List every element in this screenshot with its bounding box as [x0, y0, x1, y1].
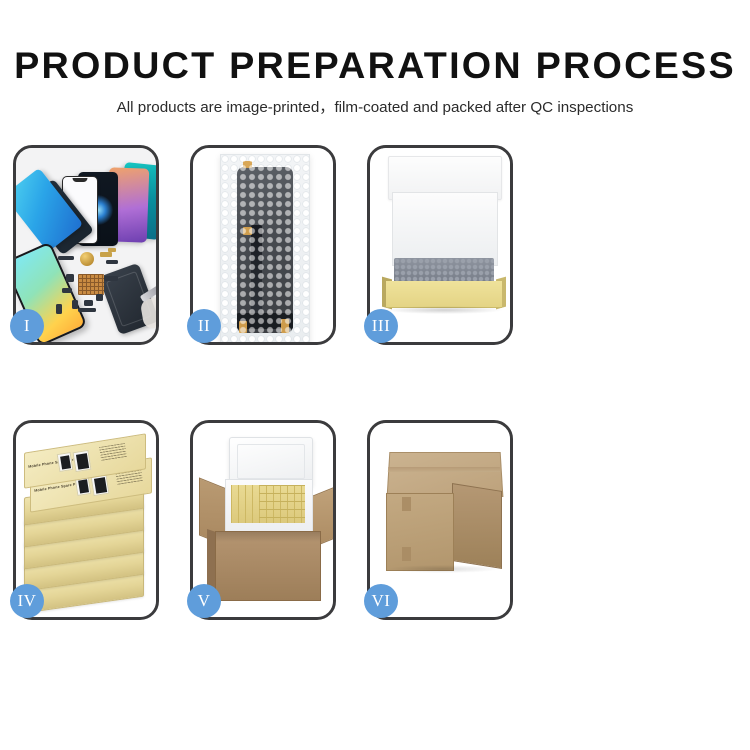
- foam-sheet: [392, 192, 498, 266]
- flex-cable: [251, 225, 262, 321]
- page-title: PRODUCT PREPARATION PROCESS: [0, 0, 750, 84]
- box-artwork: [57, 452, 74, 472]
- process-step-6[interactable]: VI: [367, 420, 513, 620]
- carton-side-face: [452, 483, 502, 569]
- part-chip: [84, 300, 93, 306]
- tape-piece: [239, 321, 247, 333]
- drop-shadow: [388, 565, 498, 573]
- tape-piece: [243, 161, 252, 168]
- part-connector: [100, 252, 112, 257]
- part-chip: [72, 300, 78, 309]
- step-badge-6: VI: [364, 584, 398, 618]
- part-chip: [104, 276, 118, 281]
- yellow-boxes-inside: [231, 485, 305, 523]
- carton-top-seam: [388, 467, 500, 472]
- part-chip: [62, 288, 72, 293]
- carton-body: [215, 531, 321, 601]
- process-step-5[interactable]: V: [190, 420, 336, 620]
- product-preparation-page: PRODUCT PREPARATION PROCESS All products…: [0, 0, 750, 750]
- part-connector: [108, 248, 116, 252]
- step-badge-4: IV: [10, 584, 44, 618]
- circuit-board: [78, 274, 104, 295]
- process-step-4[interactable]: Mobile Phone Spare Parts Mobile Phone Sp…: [13, 420, 159, 620]
- speaker-component: [80, 252, 94, 266]
- notch: [73, 178, 88, 182]
- page-header: PRODUCT PREPARATION PROCESS All products…: [0, 0, 750, 115]
- tape-piece: [281, 319, 289, 333]
- part-chip: [96, 294, 103, 301]
- process-step-3[interactable]: III: [367, 145, 513, 345]
- box-stack: Mobile Phone Spare Parts Mobile Phone Sp…: [24, 441, 154, 603]
- tape-strip: [402, 547, 411, 561]
- step-badge-3: III: [364, 309, 398, 343]
- bubble-wrap-bag: [220, 154, 310, 342]
- part-chip: [56, 304, 62, 314]
- process-step-2[interactable]: II: [190, 145, 336, 345]
- tape-piece: [243, 227, 252, 235]
- step-badge-1: I: [10, 309, 44, 343]
- step-badge-2: II: [187, 309, 221, 343]
- part-chip: [106, 260, 118, 264]
- box-front-face: [386, 281, 502, 308]
- lcd-screen: [237, 167, 293, 333]
- tape-strip: [402, 497, 411, 511]
- process-step-1[interactable]: I: [13, 145, 159, 345]
- part-chip: [78, 308, 96, 312]
- step-badge-5: V: [187, 584, 221, 618]
- carton-front-face: [386, 493, 454, 571]
- drop-shadow: [386, 306, 502, 314]
- box-edges-stacked: [259, 485, 305, 523]
- page-subtitle: All products are image-printed，film-coat…: [0, 84, 750, 115]
- part-chip: [58, 256, 74, 260]
- box-artwork: [73, 450, 92, 472]
- process-steps-grid: I II: [13, 145, 737, 677]
- part-chip: [66, 274, 74, 282]
